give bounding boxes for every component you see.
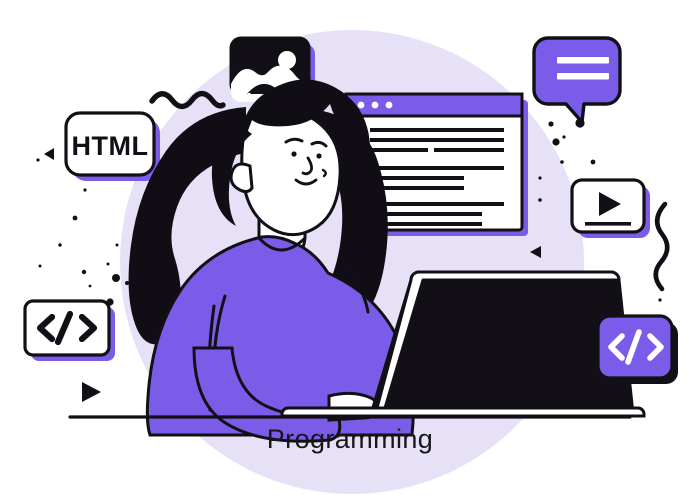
html-tag-label: HTML xyxy=(72,131,149,161)
browser-dots xyxy=(358,102,393,109)
html-tag-card[interactable]: HTML xyxy=(66,113,160,181)
play-triangle-icon xyxy=(82,382,101,402)
page-title: Programming xyxy=(0,424,700,455)
code-tag-card-left[interactable] xyxy=(25,298,115,361)
left-caret-icon xyxy=(44,148,54,160)
code-tag-card-right[interactable] xyxy=(598,316,678,384)
illustration-canvas: HTML xyxy=(0,0,700,500)
video-progress-bar xyxy=(585,222,631,226)
chat-bubble-card[interactable] xyxy=(534,38,620,122)
video-player-card[interactable] xyxy=(572,180,650,238)
vertical-wave-icon xyxy=(656,204,668,289)
ear xyxy=(231,164,252,192)
laptop-base xyxy=(282,408,644,416)
